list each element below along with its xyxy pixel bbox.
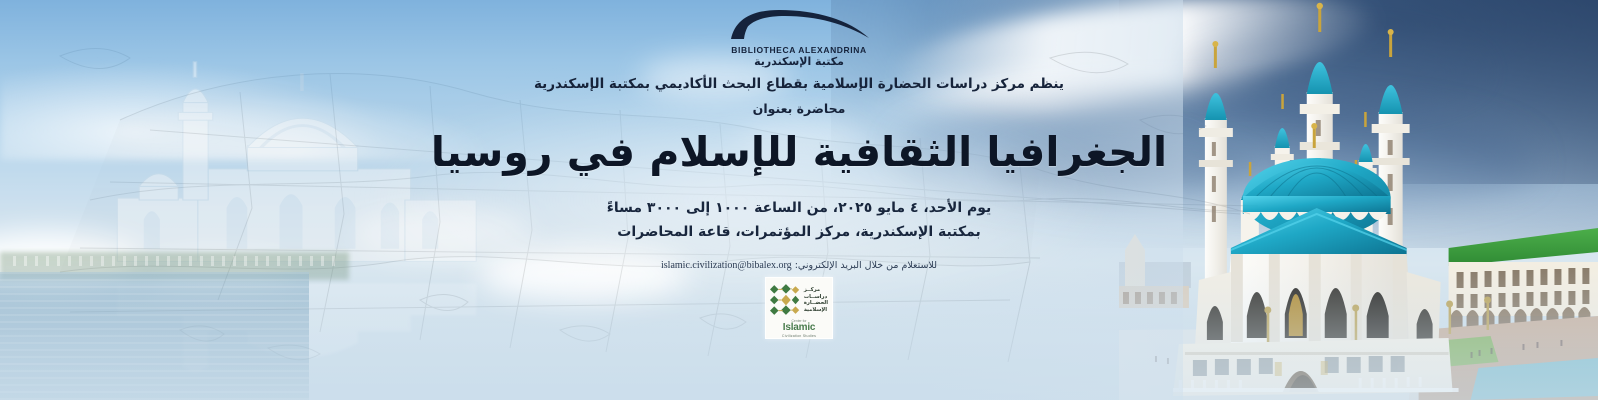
banner-content: BIBLIOTHECA ALEXANDRINA مكتبة الإسكندرية… (0, 0, 1598, 400)
contact-email[interactable]: islamic.civilization@bibalex.org (661, 260, 792, 271)
organizer-line: ينظم مركز دراسات الحضارة الإسلامية بقطاع… (534, 76, 1064, 92)
ics-logo-bottom-row: Center for Islamic Civilization Studies (770, 319, 828, 338)
date-time-line: يوم الأحد، ٤ مايو ٢٠٢٥، من الساعة ١٠٠٠ إ… (607, 200, 992, 216)
ics-subtitle-en: Civilization Studies (782, 334, 816, 338)
ics-arabic-name: مركــز دراســات الحضــارة الإسلامية (804, 287, 828, 314)
ba-name-ar: مكتبة الإسكندرية (694, 56, 904, 68)
islamic-civilization-studies-logo: مركــز دراســات الحضــارة الإسلامية Cent… (765, 277, 833, 339)
islamic-geometric-pattern-icon (770, 282, 802, 318)
ics-logo-top-row: مركــز دراســات الحضــارة الإسلامية (770, 282, 828, 318)
bibliotheca-alexandrina-logo: BIBLIOTHECA ALEXANDRINA مكتبة الإسكندرية (694, 8, 904, 68)
contact-line: للاستعلام من خلال البريد الإلكتروني: isl… (661, 260, 937, 271)
lecture-label: محاضرة بعنوان (753, 101, 846, 116)
ics-name-en: Islamic (783, 323, 816, 333)
ba-swoosh-icon (694, 8, 904, 44)
contact-prefix: للاستعلام من خلال البريد الإلكتروني: (795, 260, 937, 271)
lecture-title: الجغرافيا الثقافية للإسلام في روسيا (431, 128, 1167, 176)
ics-ar-line-1: مركــز (804, 287, 820, 294)
ics-ar-line-4: الإسلامية (804, 307, 827, 314)
lecture-banner: BIBLIOTHECA ALEXANDRINA مكتبة الإسكندرية… (0, 0, 1598, 400)
ics-ar-line-3: الحضــارة (804, 300, 828, 307)
ba-name-en: BIBLIOTHECA ALEXANDRINA (694, 45, 904, 55)
ics-ar-line-2: دراســات (804, 294, 827, 301)
venue-line: بمكتبة الإسكندرية، مركز المؤتمرات، قاعة … (617, 224, 981, 240)
